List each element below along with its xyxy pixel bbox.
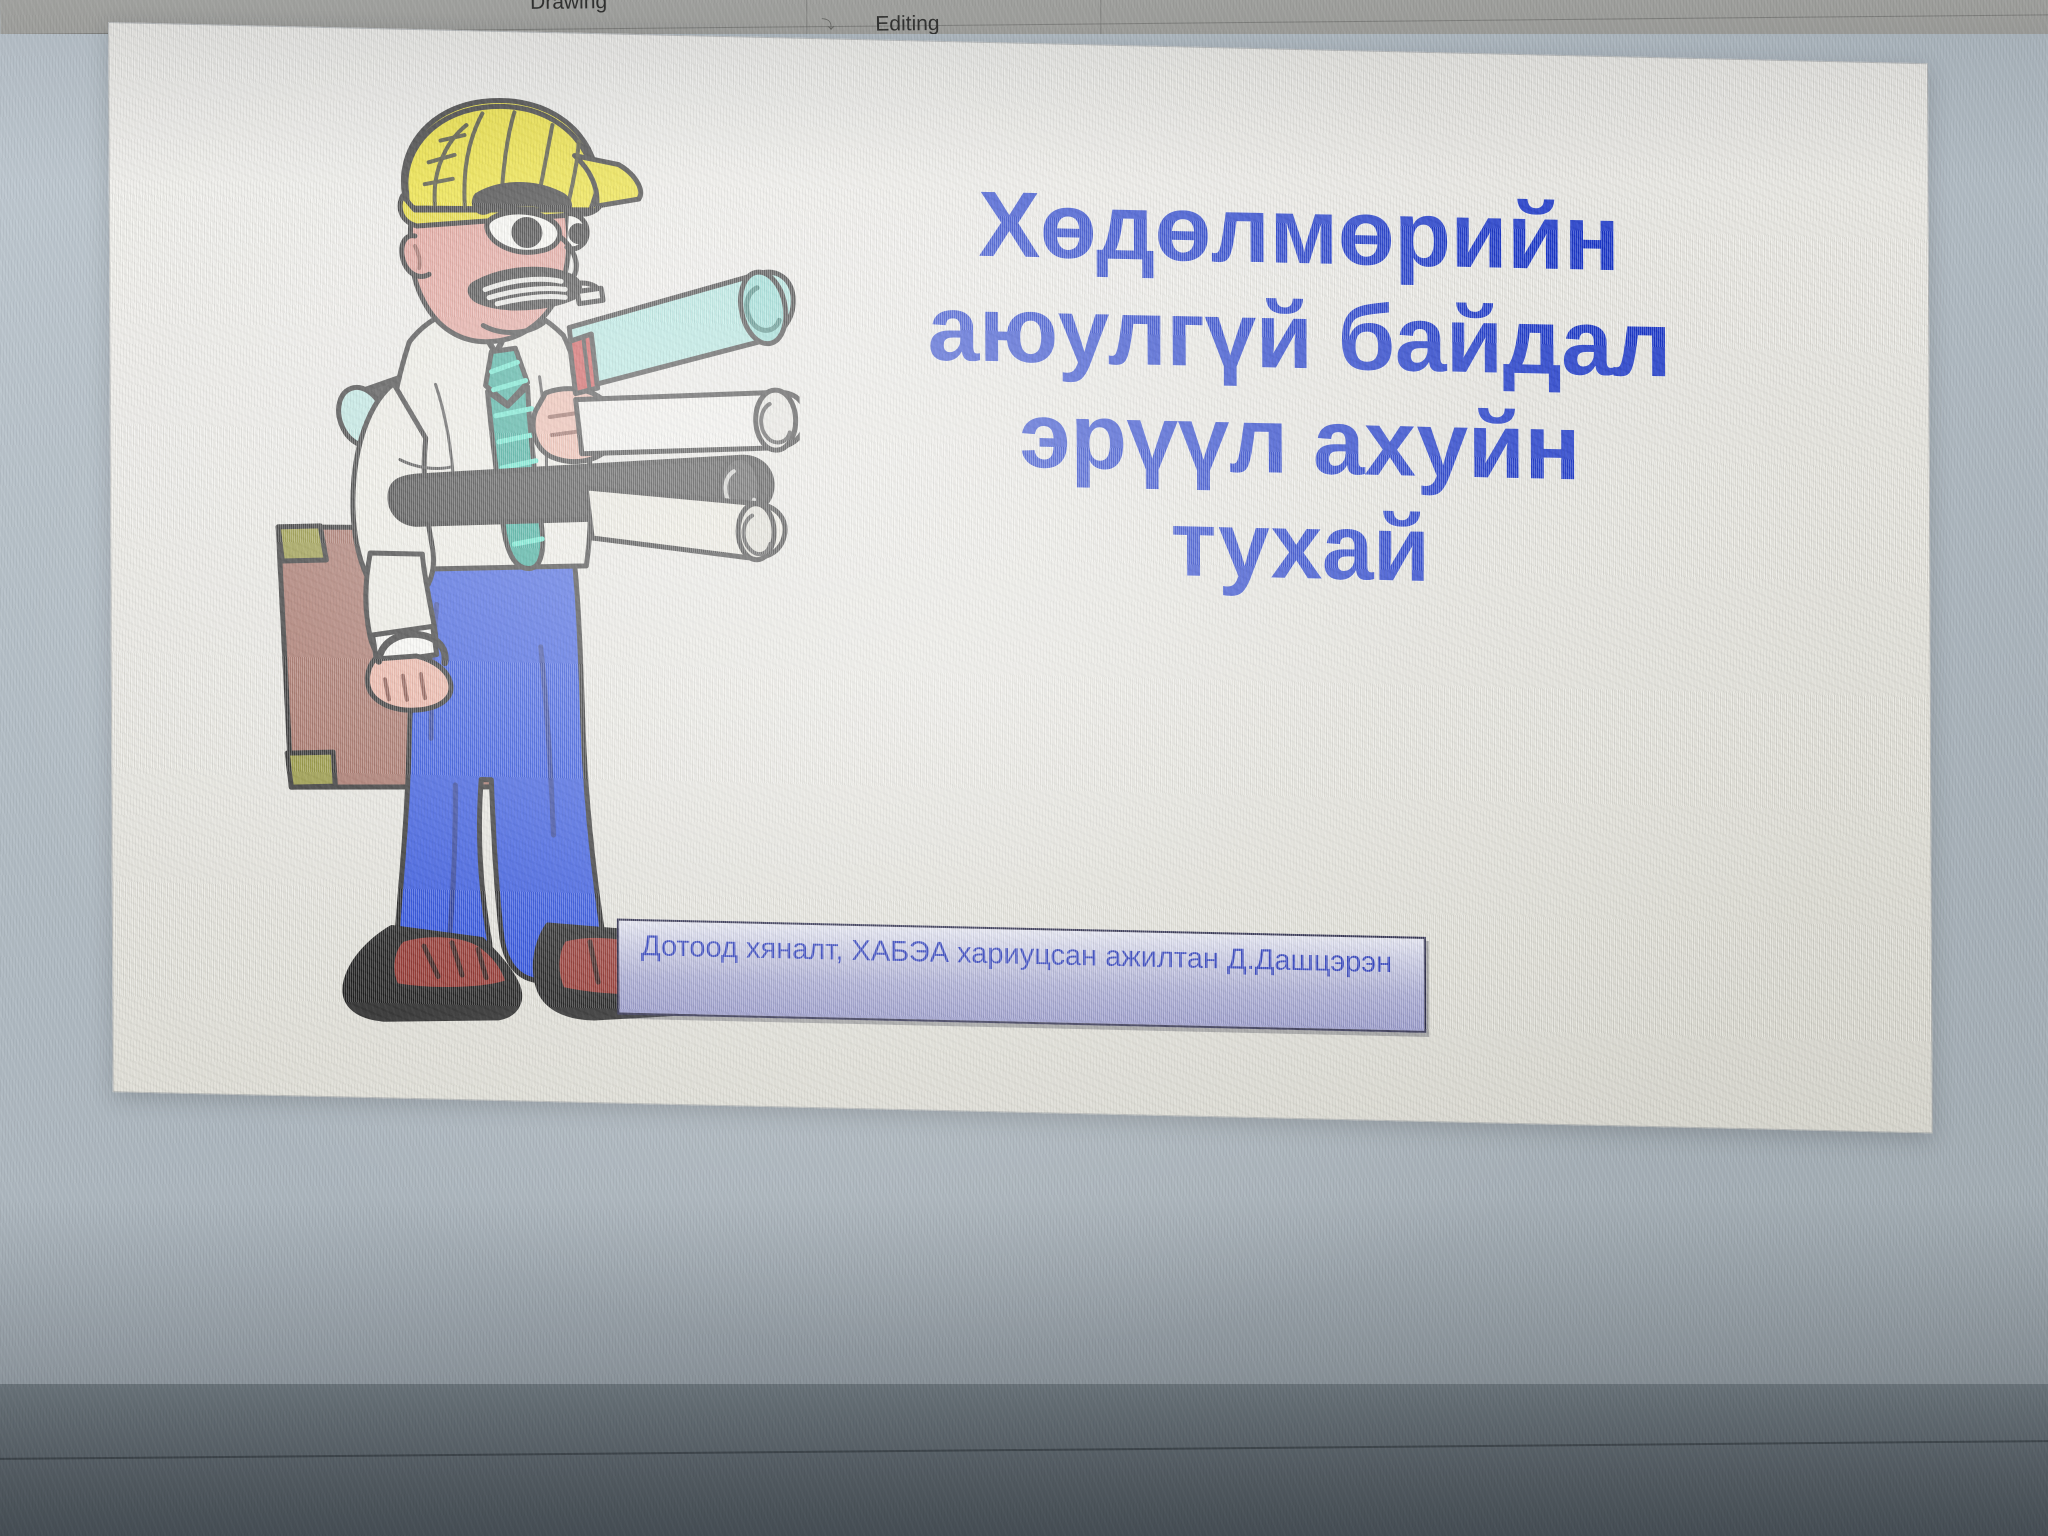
- slide-surface[interactable]: Хөдөлмөрийн аюулгүй байдал эрүүл ахуйн т…: [108, 22, 1933, 1133]
- slide-subtitle-box[interactable]: Дотоод хяналт, ХАБЭА хариуцсан ажилтан Д…: [617, 919, 1426, 1033]
- slide-subtitle-text: Дотоод хяналт, ХАБЭА хариуцсан ажилтан Д…: [619, 921, 1392, 981]
- monitor-photo: ↖ Select ▾ Drawing ⤵ Editing: [0, 0, 2048, 1536]
- slide-title[interactable]: Хөдөлмөрийн аюулгүй байдал эрүүл ахуйн т…: [709, 166, 1891, 613]
